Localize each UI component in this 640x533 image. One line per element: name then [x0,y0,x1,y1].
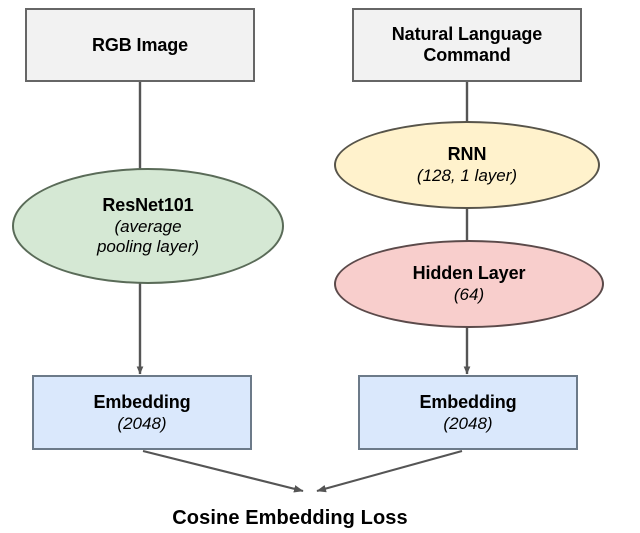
node-resnet101-subtitle: (average pooling layer) [97,217,199,256]
node-hidden-layer-subtitle: (64) [454,285,484,305]
cosine-embedding-loss-label: Cosine Embedding Loss [90,507,490,530]
node-text-embedding-title: Embedding [419,392,516,413]
node-text-embedding[interactable]: Embedding (2048) [358,375,578,450]
node-image-embedding-subtitle: (2048) [117,414,166,434]
node-natural-language-command[interactable]: Natural Language Command [352,8,582,82]
node-hidden-layer[interactable]: Hidden Layer (64) [334,240,604,328]
architecture-diagram: RGB Image ResNet101 (average pooling lay… [0,0,640,533]
node-rnn-subtitle: (128, 1 layer) [417,166,517,186]
node-resnet101[interactable]: ResNet101 (average pooling layer) [12,168,284,284]
node-rnn[interactable]: RNN (128, 1 layer) [334,121,600,209]
edge-image-embedding-to-loss [143,451,303,491]
node-rgb-image[interactable]: RGB Image [25,8,255,82]
node-text-embedding-subtitle: (2048) [443,414,492,434]
node-natural-language-command-title: Natural Language Command [392,24,542,66]
node-rnn-title: RNN [448,144,487,165]
edge-text-embedding-to-loss [317,451,462,491]
node-hidden-layer-title: Hidden Layer [413,263,526,284]
node-resnet101-title: ResNet101 [102,195,193,216]
node-image-embedding[interactable]: Embedding (2048) [32,375,252,450]
node-image-embedding-title: Embedding [93,392,190,413]
node-rgb-image-title: RGB Image [92,35,188,56]
